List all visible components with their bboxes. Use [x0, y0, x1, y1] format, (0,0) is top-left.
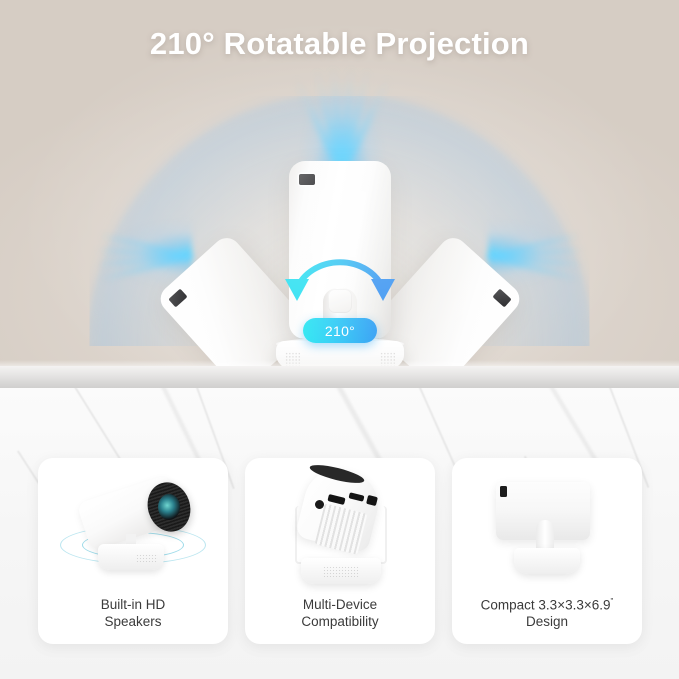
card-label-line1: Built-in HD — [101, 597, 166, 612]
ir-sensor-icon — [500, 486, 507, 497]
card-label-line1: Multi-Device — [303, 597, 377, 612]
ir-sensor-icon — [299, 174, 315, 185]
ir-sensor-icon — [168, 289, 187, 308]
page-title: 210° Rotatable Projection — [0, 26, 679, 62]
ir-sensor-icon — [492, 289, 511, 308]
card-label-line2: Speakers — [104, 614, 161, 629]
card-label: Multi-Device Compatibility — [245, 596, 435, 630]
feature-card-compatibility[interactable]: Multi-Device Compatibility — [245, 458, 435, 644]
card-label-line1: Compact 3.3×3.3×6.9 — [481, 597, 611, 612]
audio-jack-icon — [315, 500, 324, 509]
feature-card-compact[interactable]: Compact 3.3×3.3×6.9" Design — [452, 458, 642, 644]
projector-rear-ports-icon — [245, 464, 435, 584]
card-label-line2: Compatibility — [301, 614, 378, 629]
projector-horizontal-icon — [452, 464, 642, 584]
inch-mark: " — [611, 597, 614, 606]
rotation-angle-badge: 210° — [303, 318, 377, 343]
card-label: Compact 3.3×3.3×6.9" Design — [452, 593, 642, 631]
projector-with-sound-waves-icon — [38, 464, 228, 584]
card-label-line2: Design — [526, 614, 568, 629]
feature-cards: Built-in HD Speakers Multi-Device Compat… — [0, 458, 679, 644]
feature-card-speakers[interactable]: Built-in HD Speakers — [38, 458, 228, 644]
product-infographic: 210° 210° Rotatable Projection — [0, 0, 679, 679]
table-edge — [0, 366, 679, 390]
card-label: Built-in HD Speakers — [38, 596, 228, 630]
rotation-arrow-icon — [281, 243, 399, 305]
